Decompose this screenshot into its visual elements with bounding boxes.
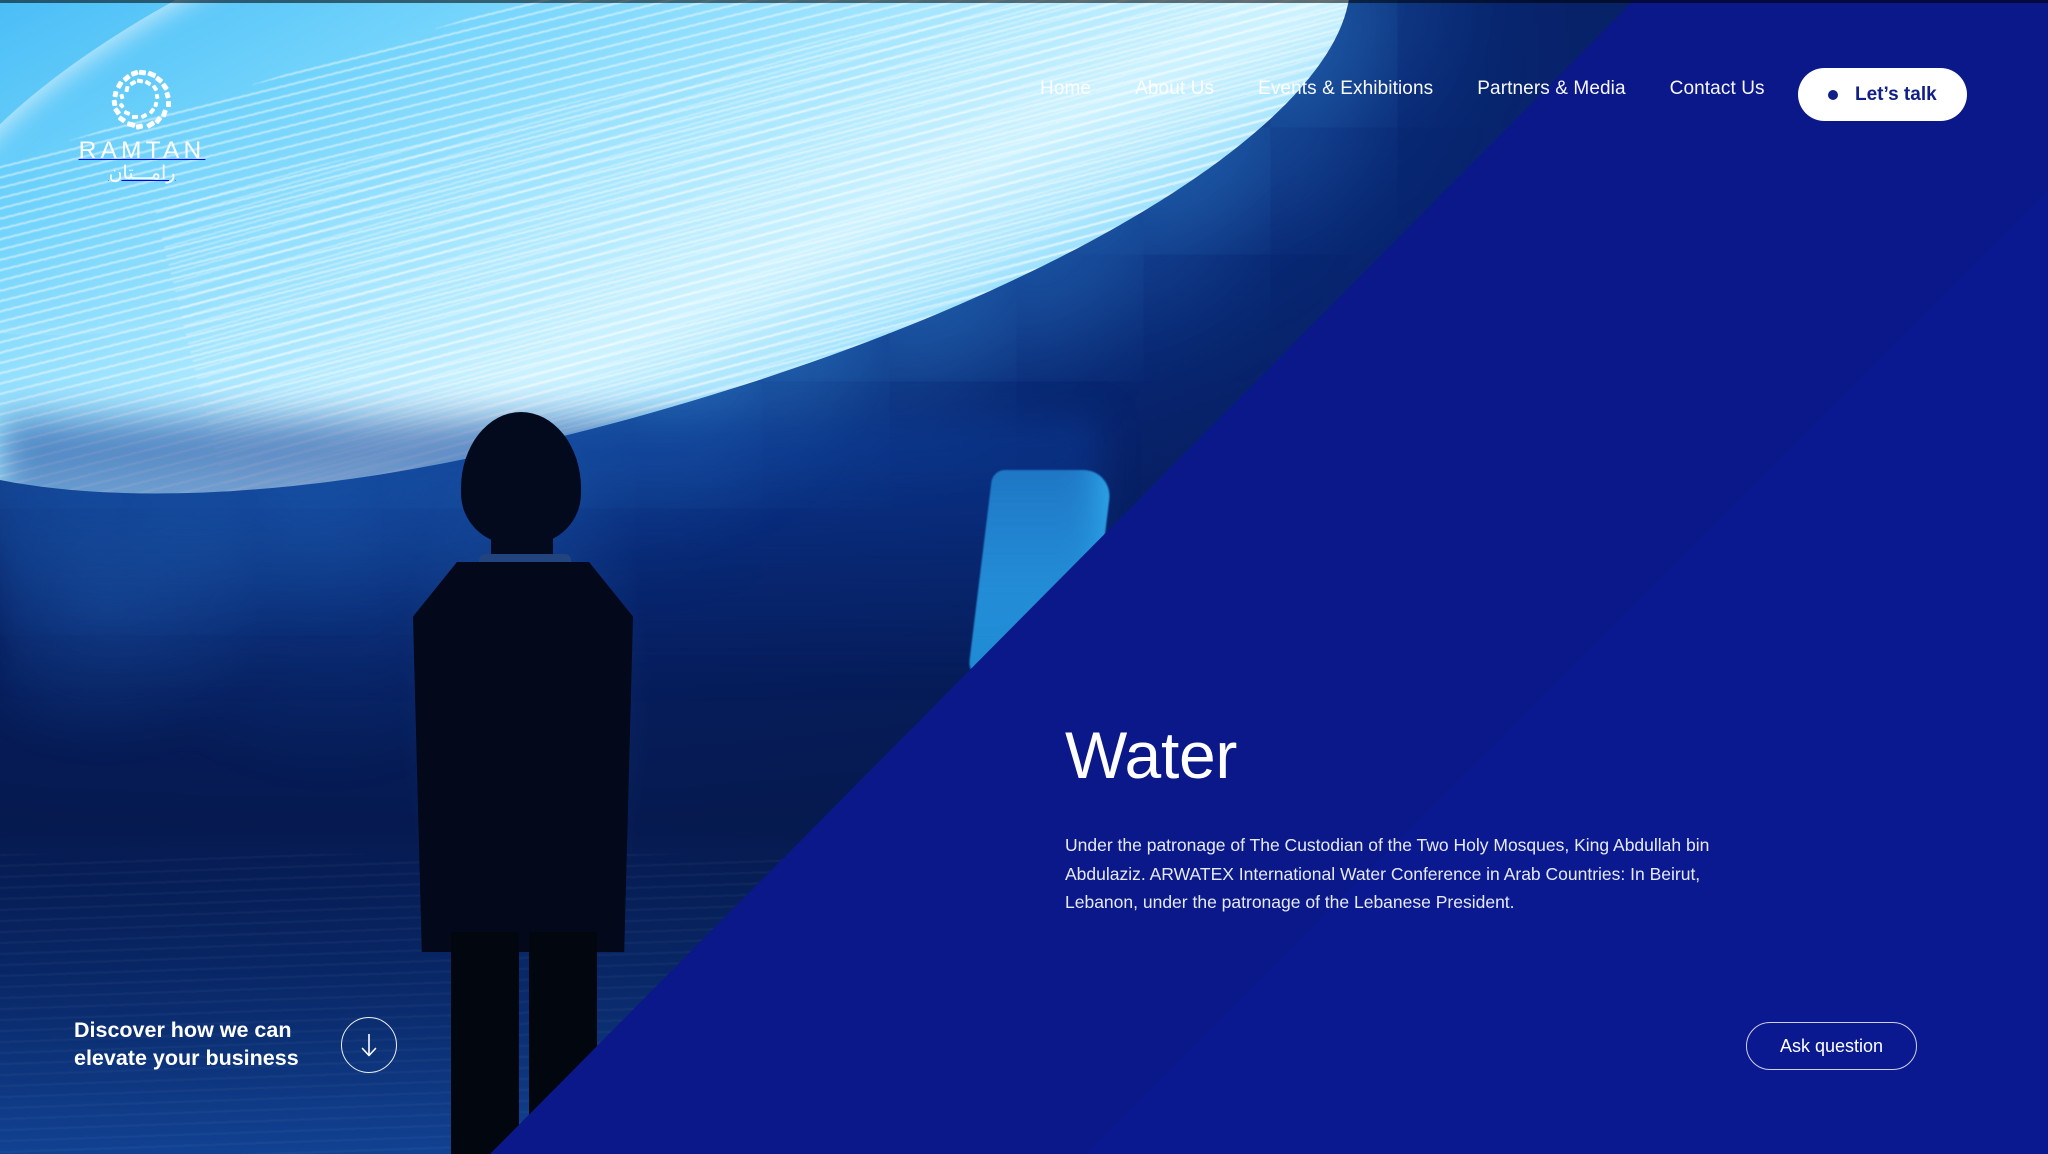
discover-label: Discover how we can elevate your busines… [74, 1017, 299, 1073]
hero-content: Water Under the patronage of The Custodi… [1065, 722, 1785, 916]
page-title: Water [1065, 722, 1785, 789]
nav-about-us[interactable]: About Us [1135, 78, 1214, 100]
lets-talk-button[interactable]: Let’s talk [1798, 68, 1967, 121]
discover-block: Discover how we can elevate your busines… [74, 1017, 397, 1073]
hero-description: Under the patronage of The Custodian of … [1065, 831, 1777, 916]
hero-page: RAMTAN رامـــتان Home About Us Events & … [0, 0, 2048, 1154]
ask-question-button[interactable]: Ask question [1746, 1022, 1917, 1070]
nav-events-exhibitions[interactable]: Events & Exhibitions [1258, 78, 1433, 100]
figure-torso [413, 562, 633, 952]
figure-leg-left [451, 932, 519, 1154]
nav-contact-us[interactable]: Contact Us [1670, 78, 1765, 100]
lets-talk-label: Let’s talk [1855, 84, 1937, 106]
brand-wordmark-arabic: رامـــتان [109, 163, 176, 184]
nav-partners-media[interactable]: Partners & Media [1477, 78, 1625, 100]
ramtan-circular-emblem [109, 121, 175, 138]
bullet-dot-icon [1828, 90, 1838, 100]
primary-navigation: Home About Us Events & Exhibitions Partn… [1040, 78, 1765, 100]
brand-wordmark: RAMTAN [79, 137, 206, 164]
brand-logo[interactable]: RAMTAN رامـــتان [77, 68, 207, 184]
nav-home[interactable]: Home [1040, 78, 1091, 100]
arrow-down-icon [358, 1031, 380, 1059]
ask-question-label: Ask question [1780, 1036, 1883, 1057]
scroll-down-button[interactable] [341, 1017, 397, 1073]
site-header: RAMTAN رامـــتان Home About Us Events & … [0, 0, 2048, 180]
